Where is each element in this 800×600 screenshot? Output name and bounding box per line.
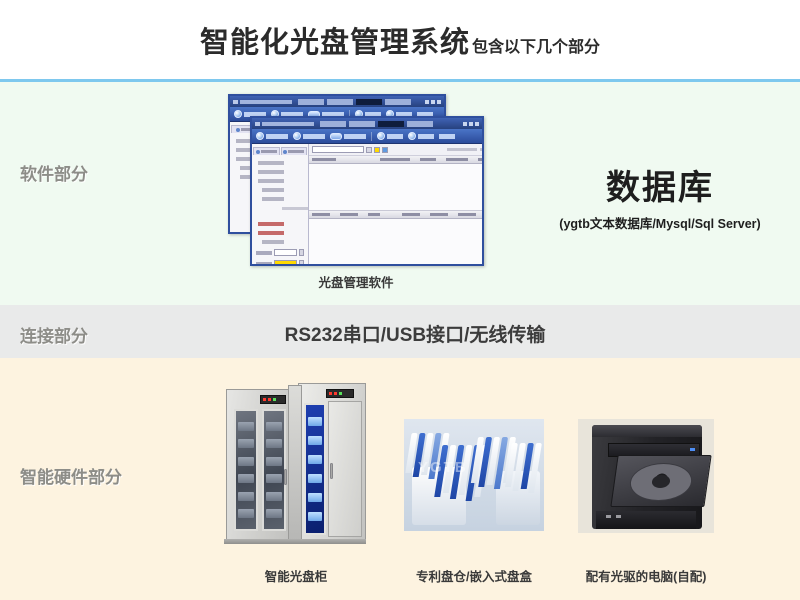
section-label-connection: 连接部分 [20,322,88,347]
window-title-text [240,100,292,104]
column-header [368,213,380,216]
disc-icon [330,133,342,140]
tree-item-alert[interactable] [258,231,284,235]
database-block: 数据库 (ygtb文本数据库/Mysql/Sql Server) [520,160,800,232]
window-tab-active[interactable] [356,99,382,105]
window-tab[interactable] [327,99,353,105]
cabinet-handle [284,469,287,485]
shelf [308,474,322,483]
led-indicator [334,392,337,395]
toolbar-separator [371,132,372,141]
table-body-top[interactable] [309,164,484,211]
search-icon [408,132,416,140]
shelf [266,439,282,448]
form-browse-button[interactable] [299,249,304,256]
import-icon [256,132,264,140]
reset-button-icon [616,515,621,518]
sidebar-hint-text [282,207,308,210]
form-label [256,262,272,266]
export-icon [293,132,301,140]
folder-icon [256,150,260,154]
maximize-icon[interactable] [431,100,435,104]
shelf [308,493,322,502]
toolbar-button-disc[interactable] [330,133,366,140]
window-tab[interactable] [385,99,411,105]
drive-led-icon [690,448,695,451]
shelf [308,436,322,445]
cabinet-led-display-right [326,389,354,398]
shelf [238,439,254,448]
table-header-bottom [309,211,484,219]
form-input-code[interactable] [274,249,297,256]
app-window-front[interactable] [250,116,484,266]
sidebar-tabs [252,146,308,157]
hardware-caption-tray: 专利盘仓/嵌入式盘盒 [398,566,550,585]
table-header-top [309,156,484,164]
tree-item[interactable] [258,161,284,165]
tree-item[interactable] [258,170,284,174]
toolbar-label [387,134,403,139]
shelf [266,422,282,431]
shelf [238,474,254,483]
connection-text: RS232串口/USB接口/无线传输 [250,320,580,347]
tree-item[interactable] [262,240,284,244]
shelf [266,457,282,466]
window-titlebar-front [252,118,482,129]
sidebar-tree[interactable] [252,157,308,201]
column-header [402,213,420,216]
shelf [308,512,322,521]
shelf [266,474,282,483]
form-row-highlight [256,260,304,266]
hardware-caption-computer: 配有光驱的电脑(自配) [570,566,722,585]
database-title: 数据库 [520,160,800,209]
pc-front-panel [596,511,696,529]
minimize-icon[interactable] [425,100,429,104]
window-tab[interactable] [407,121,433,127]
column-header [478,158,484,161]
pc-tower-top [592,425,702,437]
tree-item-alert[interactable] [258,222,284,226]
shelf [238,422,254,431]
poster-root: 智能化光盘管理系统 包含以下几个部分 软件部分 [0,0,800,600]
form-input-highlighted[interactable] [274,260,297,266]
tree-item[interactable] [258,179,284,183]
content-panel-front [309,144,484,264]
page-header: 智能化光盘管理系统 包含以下几个部分 [0,0,800,80]
window-body-front [252,144,482,264]
led-indicator [273,398,276,401]
toolbar-label [344,134,366,139]
cabinet-left-glass-2 [262,409,286,531]
window-toolbar-front [252,129,482,144]
software-screenshot [228,94,484,266]
maximize-icon[interactable] [469,122,473,126]
section-label-hardware: 智能硬件部分 [20,463,122,488]
shelf [266,509,282,518]
form-browse-button[interactable] [299,260,304,266]
close-icon[interactable] [475,122,479,126]
disc-tray-photo: YGTB [404,419,544,531]
column-header [420,158,436,161]
cabinet-led-display-left [260,395,286,404]
search-input[interactable] [312,146,364,153]
cabinet-right-glass-lit [304,403,326,535]
window-tab-strip [298,99,411,105]
column-header [340,213,358,216]
tree-item[interactable] [262,197,284,201]
page-subtitle: 包含以下几个部分 [472,33,600,57]
import-icon [234,110,242,118]
window-title-text [262,122,314,126]
gear-icon [377,132,385,140]
column-header [458,213,476,216]
section-label-software: 软件部分 [20,160,88,185]
record-count-text [447,148,477,151]
search-go-icon[interactable] [374,147,380,153]
window-tab[interactable] [320,121,346,127]
window-controls[interactable] [425,100,441,104]
shelf [308,417,322,426]
tree-item[interactable] [262,188,284,192]
toolbar-button-export[interactable] [293,132,325,140]
shelf [238,457,254,466]
sidebar-tab-disc[interactable] [281,147,308,155]
close-icon[interactable] [437,100,441,104]
toolbar-label [303,134,325,139]
search-reset-icon[interactable] [382,147,388,153]
column-header [380,158,410,161]
table-body-bottom[interactable] [309,219,484,265]
shelf [266,492,282,501]
cabinet-left-glass-1 [234,409,258,531]
form-label [256,251,272,255]
column-header [312,158,336,161]
window-tab-active[interactable] [378,121,404,127]
sidebar-tab-catalog[interactable] [253,147,280,155]
cabinet-right-door [328,401,362,537]
database-subtitle: (ygtb文本数据库/Mysql/Sql Server) [520,213,800,232]
window-tab-strip [320,121,433,127]
column-header [430,213,448,216]
led-indicator [268,398,271,401]
shelf [308,455,322,464]
toolbar-button-settings[interactable] [377,132,403,140]
sidebar-tab-label [261,150,277,153]
cabinet-middle-side-panel [288,385,302,541]
led-indicator [263,398,266,401]
led-indicator [339,392,342,395]
status-text [480,148,484,151]
toolbar-label [266,134,288,139]
search-meta [447,148,484,151]
computer-optical-drive-photo [578,419,714,533]
cabinet-group [216,381,376,551]
led-indicator [329,392,332,395]
column-header [446,158,468,161]
hardware-caption-cabinet: 智能光盘柜 [216,566,376,585]
toolbar-button-search[interactable] [408,132,434,140]
folder-icon [236,128,240,132]
window-tab[interactable] [298,99,324,105]
minimize-icon[interactable] [463,122,467,126]
disc-cabinet-photo [216,381,376,551]
toolbar-button-import[interactable] [256,132,288,140]
shelf [238,492,254,501]
watermark-text: YGTB [418,459,530,476]
window-tab[interactable] [349,121,375,127]
cabinet-handle [330,463,333,479]
toolbar-label [439,134,455,139]
disc-icon [283,150,287,154]
window-titlebar-back [230,96,444,107]
app-icon [255,122,260,126]
power-button-icon [606,515,611,518]
sidebar-tab-label [288,150,304,153]
sidebar-panel-front [252,144,309,264]
page-title: 智能化光盘管理系统 [200,19,470,61]
search-bar-front [309,144,484,156]
sidebar-form [252,249,308,266]
shelf [238,509,254,518]
search-dropdown-icon[interactable] [366,147,372,153]
window-controls[interactable] [463,122,479,126]
sidebar-tree-secondary[interactable] [252,218,308,244]
column-header [312,213,330,216]
toolbar-label [418,134,434,139]
app-icon [233,100,238,104]
form-row-code [256,249,304,256]
header-title-group: 智能化光盘管理系统 包含以下几个部分 [200,19,600,61]
cabinet-base [224,539,366,544]
software-caption: 光盘管理软件 [228,272,484,291]
